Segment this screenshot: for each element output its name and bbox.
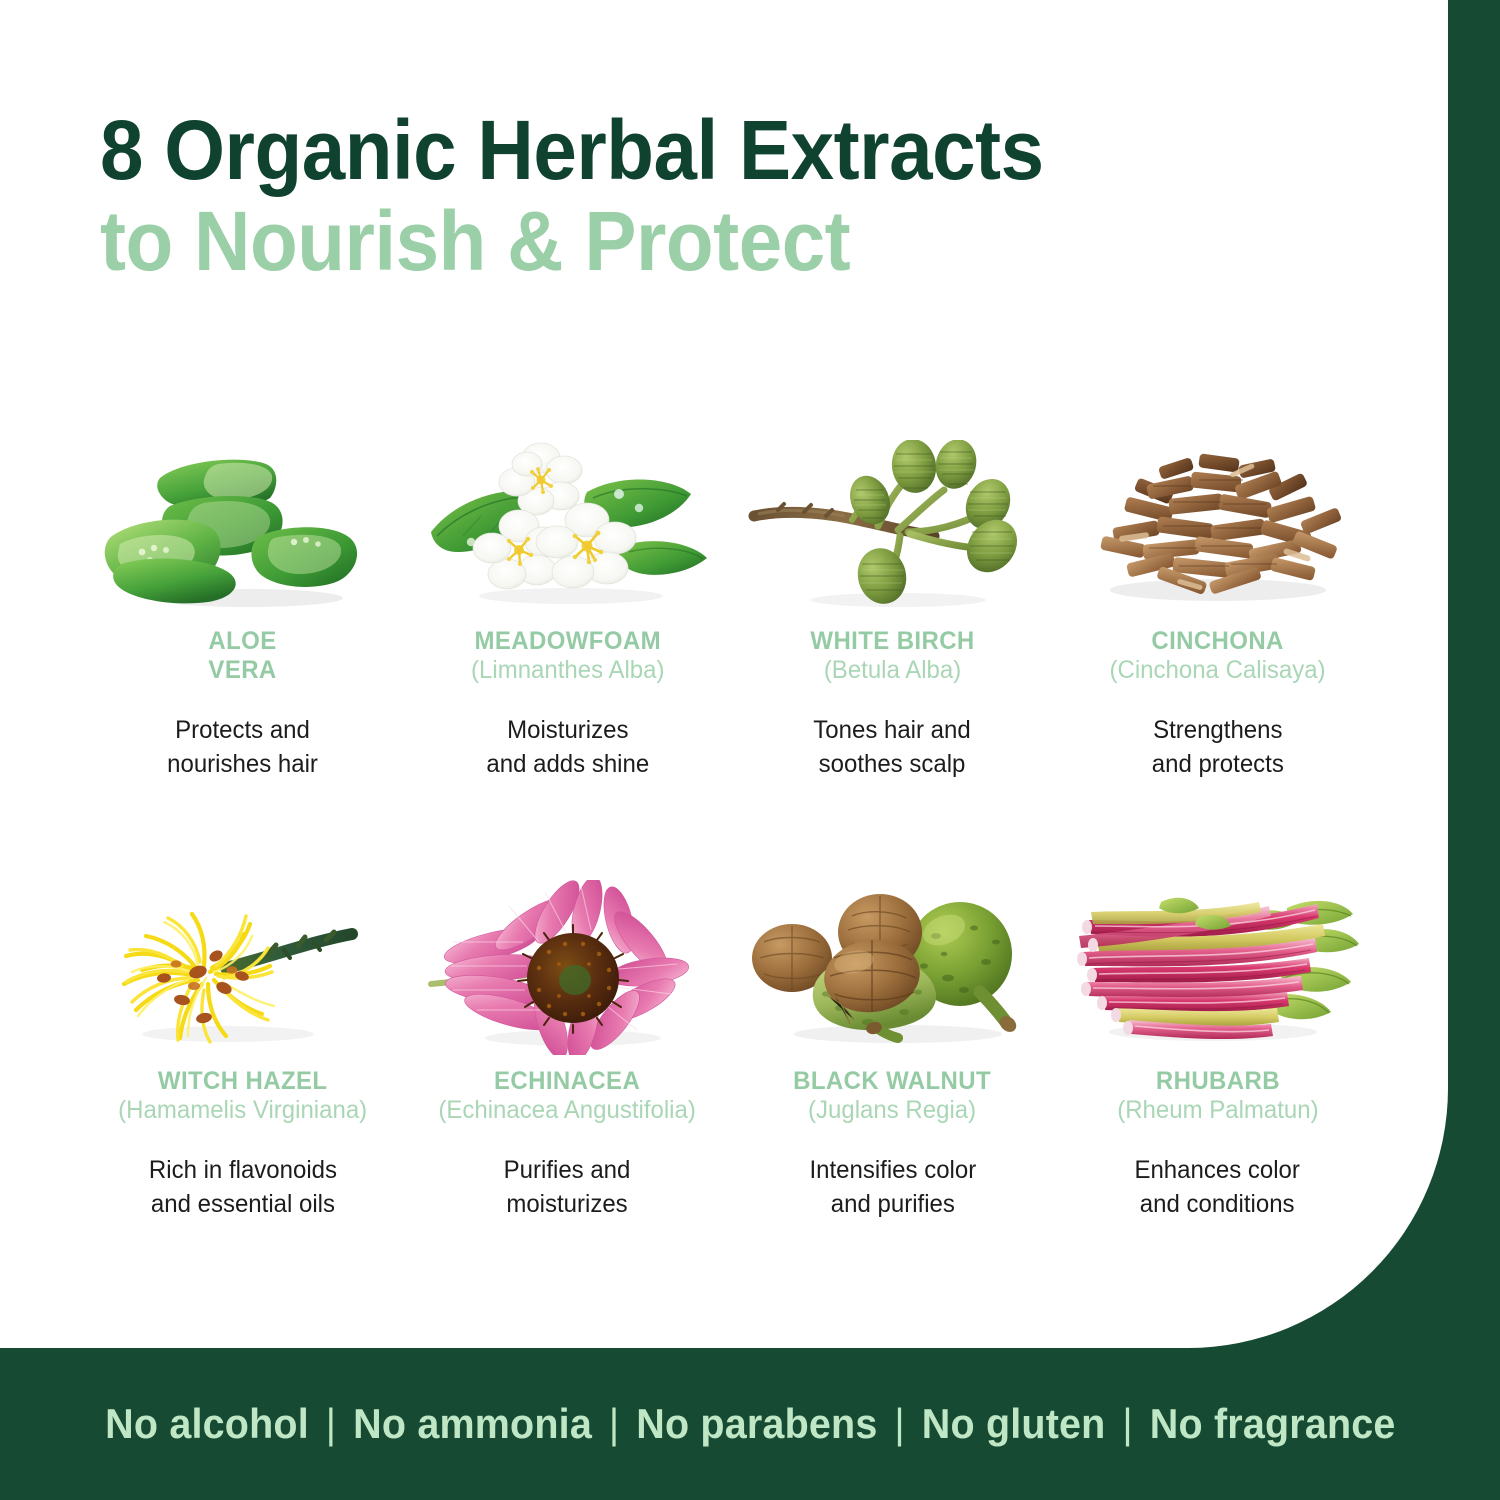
claim-separator: | — [1122, 1400, 1132, 1448]
extract-names: ALOE VERA — [207, 627, 278, 705]
claims-footer: No alcohol | No ammonia | No parabens | … — [0, 1348, 1500, 1500]
extract-card-cinchona: CINCHONA (Cinchona Calisaya) Strengthens… — [1055, 440, 1380, 781]
common-name: MEADOWFOAM — [471, 627, 664, 656]
benefit-text: Strengthens and protects — [1151, 713, 1283, 781]
extract-card-black-walnut: BLACK WALNUT (Juglans Regia) Intensifies… — [730, 880, 1055, 1221]
common-name: WHITE BIRCH — [810, 627, 974, 656]
benefit-line-2: soothes scalp — [814, 747, 971, 781]
extract-card-white-birch: WHITE BIRCH (Betula Alba) Tones hair and… — [730, 440, 1055, 781]
extract-card-aloe-vera: ALOE VERA Protects and nourishes hair — [80, 440, 405, 781]
extract-names: MEADOWFOAM (Limnanthes Alba) — [467, 627, 669, 705]
latin-name: (Limnanthes Alba) — [471, 656, 664, 685]
extract-names: CINCHONA (Cinchona Calisaya) — [1105, 627, 1330, 705]
benefit-line-2: and conditions — [1135, 1187, 1300, 1221]
latin-name: (Rheum Palmatun) — [1117, 1096, 1318, 1125]
benefit-text: Protects and nourishes hair — [167, 713, 318, 781]
cinchona-bark-icon — [1073, 440, 1363, 615]
benefit-line-2: nourishes hair — [167, 747, 318, 781]
latin-name: (Hamamelis Virginiana) — [118, 1096, 367, 1125]
extract-card-echinacea: ECHINACEA (Echinacea Angustifolia) Purif… — [405, 880, 730, 1221]
benefit-line-1: Strengthens — [1151, 713, 1283, 747]
echinacea-flower-icon — [423, 880, 713, 1055]
extract-grid-row-2: WITCH HAZEL (Hamamelis Virginiana) Rich … — [80, 880, 1380, 1221]
common-name: WITCH HAZEL — [118, 1067, 367, 1096]
benefit-line-1: Enhances color — [1135, 1153, 1300, 1187]
benefit-line-1: Moisturizes — [486, 713, 649, 747]
benefit-line-1: Protects and — [167, 713, 318, 747]
aloe-vera-icon — [98, 440, 388, 615]
latin-name: (Juglans Regia) — [794, 1096, 992, 1125]
benefit-line-2: and protects — [1151, 747, 1283, 781]
black-walnut-icon — [748, 880, 1038, 1055]
benefit-line-1: Purifies and — [504, 1153, 631, 1187]
common-name-line2: VERA — [208, 656, 276, 685]
common-name: ECHINACEA — [439, 1067, 696, 1096]
benefit-text: Tones hair and soothes scalp — [814, 713, 971, 781]
extract-card-meadowfoam: MEADOWFOAM (Limnanthes Alba) Moisturizes… — [405, 440, 730, 781]
claim-no-fragrance: No fragrance — [1149, 1400, 1395, 1448]
benefit-line-1: Tones hair and — [814, 713, 971, 747]
meadowfoam-flower-icon — [423, 440, 713, 615]
benefit-text: Moisturizes and adds shine — [486, 713, 649, 781]
white-birch-icon — [748, 440, 1038, 615]
witch-hazel-icon — [98, 880, 388, 1055]
claim-no-ammonia: No ammonia — [353, 1400, 592, 1448]
common-name: ALOE — [208, 627, 276, 656]
common-name: RHUBARB — [1117, 1067, 1318, 1096]
extract-names: ECHINACEA (Echinacea Angustifolia) — [433, 1067, 701, 1145]
benefit-text: Intensifies color and purifies — [809, 1153, 976, 1221]
title-line-primary: 8 Organic Herbal Extracts — [100, 108, 1272, 194]
claim-no-gluten: No gluten — [921, 1400, 1105, 1448]
claim-separator: | — [609, 1400, 619, 1448]
benefit-line-2: and adds shine — [486, 747, 649, 781]
benefit-line-1: Intensifies color — [809, 1153, 976, 1187]
benefit-line-1: Rich in flavonoids — [148, 1153, 336, 1187]
benefit-line-2: moisturizes — [504, 1187, 631, 1221]
extract-names: WITCH HAZEL (Hamamelis Virginiana) — [113, 1067, 372, 1145]
claim-no-alcohol: No alcohol — [105, 1400, 309, 1448]
latin-name: (Cinchona Calisaya) — [1109, 656, 1325, 685]
benefit-text: Enhances color and conditions — [1135, 1153, 1300, 1221]
extract-names: WHITE BIRCH (Betula Alba) — [807, 627, 978, 705]
title-line-secondary: to Nourish & Protect — [100, 194, 1272, 288]
common-name: CINCHONA — [1109, 627, 1325, 656]
benefit-text: Purifies and moisturizes — [504, 1153, 631, 1221]
benefit-line-2: and essential oils — [148, 1187, 336, 1221]
benefit-line-2: and purifies — [809, 1187, 976, 1221]
latin-name: (Betula Alba) — [810, 656, 974, 685]
claim-separator: | — [325, 1400, 335, 1448]
page-title: 8 Organic Herbal Extracts to Nourish & P… — [100, 108, 1360, 288]
common-name: BLACK WALNUT — [794, 1067, 992, 1096]
claim-separator: | — [894, 1400, 904, 1448]
rhubarb-stalks-icon — [1073, 880, 1363, 1055]
extract-card-witch-hazel: WITCH HAZEL (Hamamelis Virginiana) Rich … — [80, 880, 405, 1221]
extract-names: BLACK WALNUT (Juglans Regia) — [789, 1067, 995, 1145]
claims-list: No alcohol | No ammonia | No parabens | … — [105, 1400, 1395, 1448]
claim-no-parabens: No parabens — [636, 1400, 877, 1448]
latin-name: (Echinacea Angustifolia) — [439, 1096, 696, 1125]
extract-card-rhubarb: RHUBARB (Rheum Palmatun) Enhances color … — [1055, 880, 1380, 1221]
white-content-panel: 8 Organic Herbal Extracts to Nourish & P… — [0, 0, 1448, 1348]
extract-grid: ALOE VERA Protects and nourishes hair — [80, 440, 1380, 781]
infographic-page: 8 Organic Herbal Extracts to Nourish & P… — [0, 0, 1500, 1500]
benefit-text: Rich in flavonoids and essential oils — [148, 1153, 336, 1221]
extract-names: RHUBARB (Rheum Palmatun) — [1113, 1067, 1323, 1145]
